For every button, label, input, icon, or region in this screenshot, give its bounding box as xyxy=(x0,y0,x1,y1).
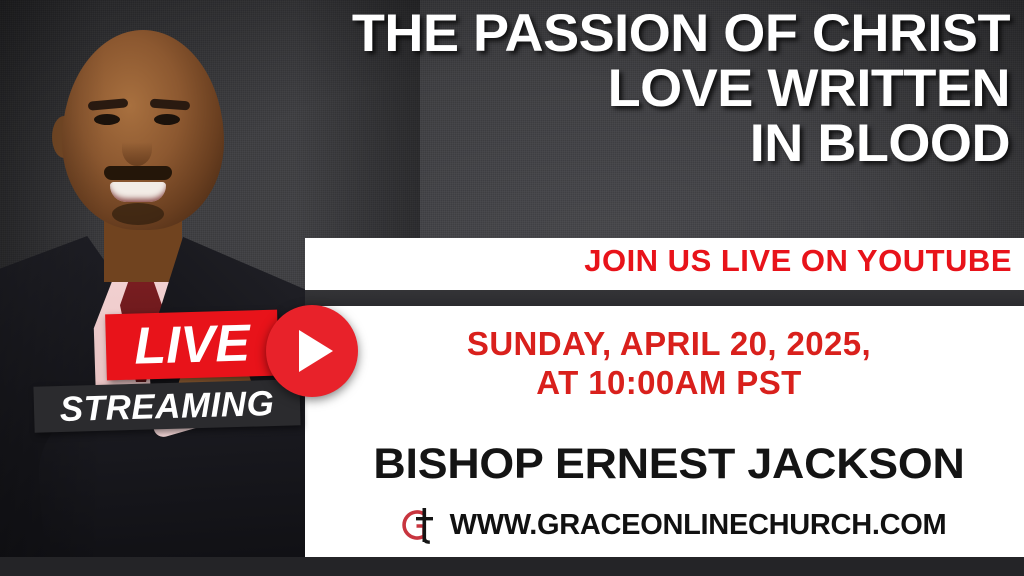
headline-line-2: LOVE WRITTEN xyxy=(204,61,1010,116)
join-cta-text: JOIN US LIVE ON YOUTUBE xyxy=(330,243,1012,279)
footer-strip xyxy=(0,557,1024,576)
play-button[interactable] xyxy=(266,305,358,397)
headline-line-1: THE PASSION OF CHRIST xyxy=(204,6,1010,61)
live-badge: LIVE xyxy=(105,310,279,381)
live-stream-announcement-banner: THE PASSION OF CHRIST LOVE WRITTEN IN BL… xyxy=(0,0,1024,576)
panel-separator xyxy=(305,290,1024,306)
streaming-label: STREAMING xyxy=(59,386,274,427)
play-triangle-icon xyxy=(299,330,333,372)
website-row[interactable]: WWW.GRACEONLINECHURCH.COM xyxy=(330,505,1014,545)
schedule-line-2: AT 10:00AM PST xyxy=(330,364,1008,403)
speaker-name: BISHOP ERNEST JACKSON xyxy=(316,440,1021,489)
church-logo-icon xyxy=(398,505,442,545)
live-label: LIVE xyxy=(133,317,250,372)
streaming-band: STREAMING xyxy=(33,379,300,432)
page-title: THE PASSION OF CHRIST LOVE WRITTEN IN BL… xyxy=(204,6,1010,171)
schedule-line-1: SUNDAY, APRIL 20, 2025, xyxy=(330,325,1008,364)
website-url[interactable]: WWW.GRACEONLINECHURCH.COM xyxy=(450,509,947,542)
headline-line-3: IN BLOOD xyxy=(204,116,1010,171)
schedule-text: SUNDAY, APRIL 20, 2025, AT 10:00AM PST xyxy=(330,325,1008,402)
